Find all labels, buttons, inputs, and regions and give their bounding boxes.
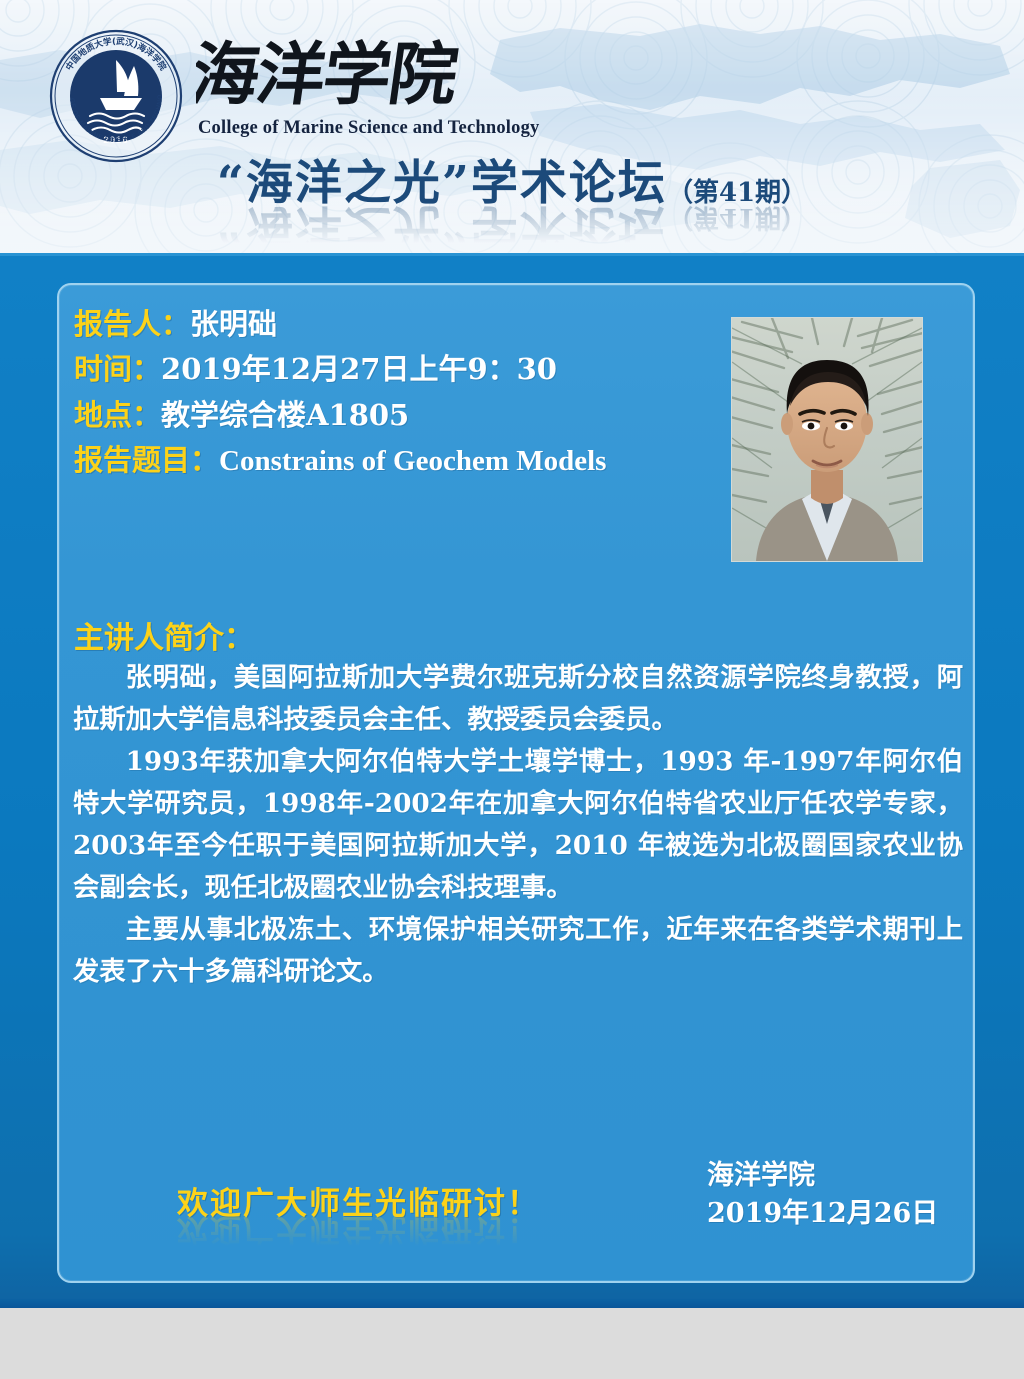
speaker-value: 张明础 [190, 307, 277, 341]
portrait-image [732, 318, 922, 561]
content-panel: 报告人：张明础 时间：2019年12月27日上午9：30 地点：教学综合楼A18… [57, 283, 975, 1283]
poster: 2016 中国地质大学(武汉)海洋学院 COLLEGE OF MARINE SC… [0, 0, 1024, 1308]
time-value: 2019年12月27日上午9：30 [161, 352, 557, 386]
body-bottom-edge [0, 1299, 1024, 1308]
speaker-label: 报告人： [74, 307, 190, 341]
bio-body: 张明础，美国阿拉斯加大学费尔班克斯分校自然资源学院终身教授，阿拉斯加大学信息科技… [73, 657, 963, 993]
event-info-block: 报告人：张明础 时间：2019年12月27日上午9：30 地点：教学综合楼A18… [74, 305, 754, 487]
forum-issue-number: （第41期） [667, 178, 807, 208]
brand-english-name: College of Marine Science and Technology [198, 118, 498, 139]
topic-label: 报告题目： [74, 443, 219, 477]
bio-heading: 主讲人简介： [74, 613, 254, 657]
poster-header: 2016 中国地质大学(武汉)海洋学院 COLLEGE OF MARINE SC… [0, 0, 1024, 253]
college-emblem-icon: 2016 中国地质大学(武汉)海洋学院 COLLEGE OF MARINE SC… [46, 26, 186, 166]
signature-org: 海洋学院 [707, 1157, 938, 1195]
page-background-strip [0, 1308, 1024, 1379]
body-top-highlight [0, 253, 1024, 256]
info-row-speaker: 报告人：张明础 [74, 305, 754, 343]
signature-date: 2019年12月26日 [707, 1195, 938, 1233]
info-row-topic: 报告题目：Constrains of Geochem Models [74, 441, 754, 480]
place-label: 地点： [74, 398, 161, 432]
topic-value: Constrains of Geochem Models [219, 445, 606, 477]
forum-title-main: “海洋之光”学术论坛 [217, 156, 667, 211]
signature-block: 海洋学院 2019年12月26日 [707, 1157, 938, 1233]
welcome-message: 欢迎广大师生光临研讨！ [177, 1178, 540, 1223]
place-value: 教学综合楼A1805 [161, 398, 409, 432]
svg-text:海洋学院: 海洋学院 [196, 35, 463, 115]
bio-paragraph-1: 张明础，美国阿拉斯加大学费尔班克斯分校自然资源学院终身教授，阿拉斯加大学信息科技… [73, 657, 963, 741]
time-label: 时间： [74, 352, 161, 386]
info-row-time: 时间：2019年12月27日上午9：30 [74, 350, 754, 388]
brand-calligraphy-haiyang-xueyuan: 海洋学院 [196, 28, 496, 120]
bio-paragraph-2: 1993年获加拿大阿尔伯特大学土壤学博士，1993 年-1997年阿尔伯特大学研… [73, 741, 963, 909]
speaker-portrait-photo [731, 317, 923, 562]
forum-title-block: “海洋之光”学术论坛（第41期） [0, 160, 1024, 253]
bio-paragraph-3: 主要从事北极冻土、环境保护相关研究工作，近年来在各类学术期刊上发表了六十多篇科研… [73, 909, 963, 993]
forum-title: “海洋之光”学术论坛（第41期） [217, 160, 807, 207]
poster-body: 报告人：张明础 时间：2019年12月27日上午9：30 地点：教学综合楼A18… [0, 253, 1024, 1308]
info-row-place: 地点：教学综合楼A1805 [74, 396, 754, 434]
